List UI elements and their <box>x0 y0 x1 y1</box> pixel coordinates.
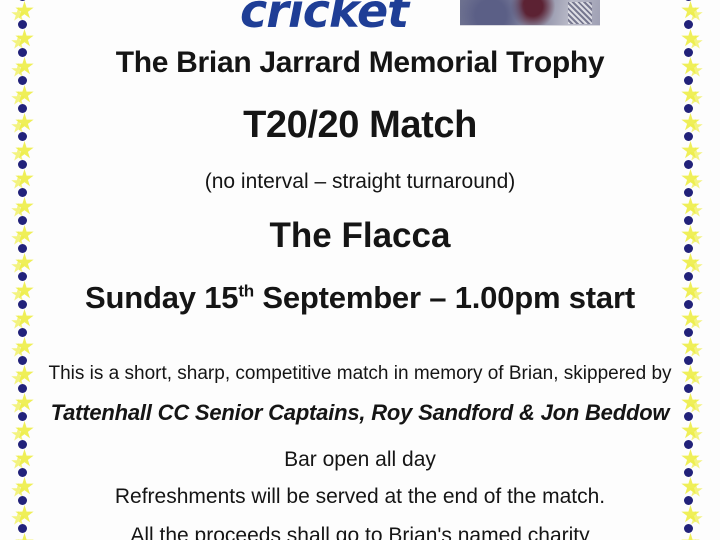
dot-icon <box>18 132 27 141</box>
date-prefix: Sunday 15 <box>85 280 238 315</box>
border-motif <box>678 102 708 130</box>
star-icon <box>15 533 34 540</box>
border-motif <box>678 410 708 438</box>
dot-icon <box>684 48 693 57</box>
masthead: cricket <box>0 0 720 30</box>
border-motif <box>678 522 708 540</box>
decorative-border-left <box>9 0 39 540</box>
border-motif <box>678 494 708 522</box>
cricket-action-photo <box>460 0 600 26</box>
date-time-line: Sunday 15th September – 1.00pm start <box>40 280 680 316</box>
interval-note: (no interval – straight turnaround) <box>40 170 680 194</box>
border-motif <box>678 438 708 466</box>
border-motif <box>9 354 39 382</box>
dot-icon <box>684 440 693 449</box>
dot-icon <box>684 496 693 505</box>
dot-icon <box>684 160 693 169</box>
match-title: T20/20 Match <box>40 104 680 147</box>
bar-note: Bar open all day <box>40 448 680 472</box>
border-motif <box>678 214 708 242</box>
clipped-bottom-note: All the proceeds shall go to Brian's nam… <box>40 524 680 540</box>
border-motif <box>9 186 39 214</box>
border-motif <box>678 298 708 326</box>
border-motif <box>9 410 39 438</box>
star-icon <box>681 533 700 540</box>
border-motif <box>678 158 708 186</box>
border-motif <box>678 74 708 102</box>
border-motif <box>678 242 708 270</box>
border-motif <box>678 270 708 298</box>
dot-icon <box>18 48 27 57</box>
dot-icon <box>684 356 693 365</box>
dot-icon <box>18 160 27 169</box>
border-motif <box>9 130 39 158</box>
border-motif <box>678 186 708 214</box>
border-motif <box>9 102 39 130</box>
dot-icon <box>684 384 693 393</box>
dot-icon <box>684 412 693 421</box>
trophy-title: The Brian Jarrard Memorial Trophy <box>40 46 680 80</box>
border-motif <box>678 466 708 494</box>
dot-icon <box>18 524 27 533</box>
dot-icon <box>684 132 693 141</box>
border-motif <box>678 326 708 354</box>
dot-icon <box>18 356 27 365</box>
cricket-logo-text: cricket <box>240 0 408 38</box>
dot-icon <box>18 384 27 393</box>
dot-icon <box>18 328 27 337</box>
dot-icon <box>18 188 27 197</box>
border-motif <box>678 382 708 410</box>
border-motif <box>9 298 39 326</box>
decorative-border-right <box>678 0 708 540</box>
dot-icon <box>684 104 693 113</box>
border-motif <box>678 46 708 74</box>
dot-icon <box>684 468 693 477</box>
border-motif <box>9 522 39 540</box>
dot-icon <box>684 272 693 281</box>
border-motif <box>9 438 39 466</box>
dot-icon <box>684 328 693 337</box>
dot-icon <box>18 496 27 505</box>
memory-note: This is a short, sharp, competitive matc… <box>40 363 680 385</box>
dot-icon <box>684 76 693 85</box>
poster-canvas: cricket The Brian Jarrard Memorial Troph… <box>0 0 720 540</box>
dot-icon <box>684 524 693 533</box>
border-motif <box>9 382 39 410</box>
dot-icon <box>18 440 27 449</box>
venue-name: The Flacca <box>40 216 680 256</box>
border-motif <box>9 214 39 242</box>
border-motif <box>9 242 39 270</box>
border-motif <box>9 158 39 186</box>
photo-texture <box>568 2 592 24</box>
dot-icon <box>684 244 693 253</box>
border-motif <box>9 46 39 74</box>
dot-icon <box>18 104 27 113</box>
dot-icon <box>18 76 27 85</box>
dot-icon <box>684 188 693 197</box>
border-motif <box>9 466 39 494</box>
dot-icon <box>18 216 27 225</box>
refreshments-note: Refreshments will be served at the end o… <box>40 485 680 509</box>
dot-icon <box>18 300 27 309</box>
border-motif <box>678 130 708 158</box>
captains-line: Tattenhall CC Senior Captains, Roy Sandf… <box>40 400 680 426</box>
border-motif <box>9 74 39 102</box>
border-motif <box>9 326 39 354</box>
dot-icon <box>684 300 693 309</box>
dot-icon <box>18 468 27 477</box>
date-ordinal-suffix: th <box>238 282 254 301</box>
border-motif <box>678 354 708 382</box>
date-suffix: September – 1.00pm start <box>254 280 635 315</box>
border-motif <box>9 270 39 298</box>
dot-icon <box>18 412 27 421</box>
dot-icon <box>18 244 27 253</box>
dot-icon <box>684 216 693 225</box>
dot-icon <box>18 272 27 281</box>
border-motif <box>9 494 39 522</box>
